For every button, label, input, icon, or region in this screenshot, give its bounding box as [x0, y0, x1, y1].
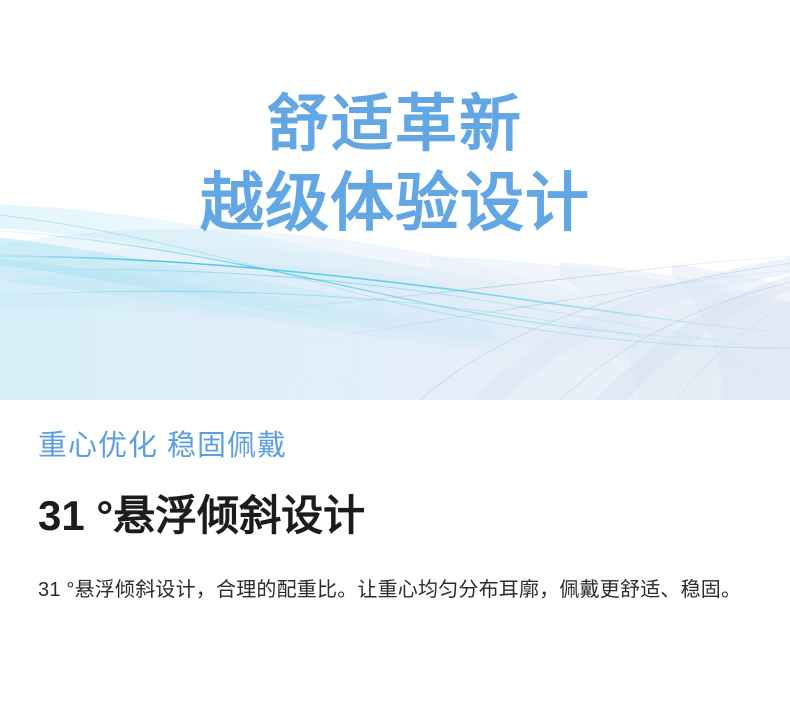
feature-body-text: 31 °悬浮倾斜设计，合理的配重比。让重心均匀分布耳廓，佩戴更舒适、稳固。: [38, 572, 752, 608]
hero-title: 舒适革新 越级体验设计: [0, 86, 790, 242]
hero-title-line-1: 舒适革新: [0, 86, 790, 164]
feature-eyebrow: 重心优化 稳固佩戴: [38, 424, 752, 468]
hero-section: 舒适革新 越级体验设计: [0, 0, 790, 400]
feature-heading: 31 °悬浮倾斜设计: [38, 486, 752, 546]
product-feature-page: 舒适革新 越级体验设计 重心优化 稳固佩戴 31 °悬浮倾斜设计 31 °悬浮倾…: [0, 0, 790, 719]
hero-title-line-2: 越级体验设计: [0, 164, 790, 242]
feature-section: 重心优化 稳固佩戴 31 °悬浮倾斜设计 31 °悬浮倾斜设计，合理的配重比。让…: [0, 424, 790, 608]
